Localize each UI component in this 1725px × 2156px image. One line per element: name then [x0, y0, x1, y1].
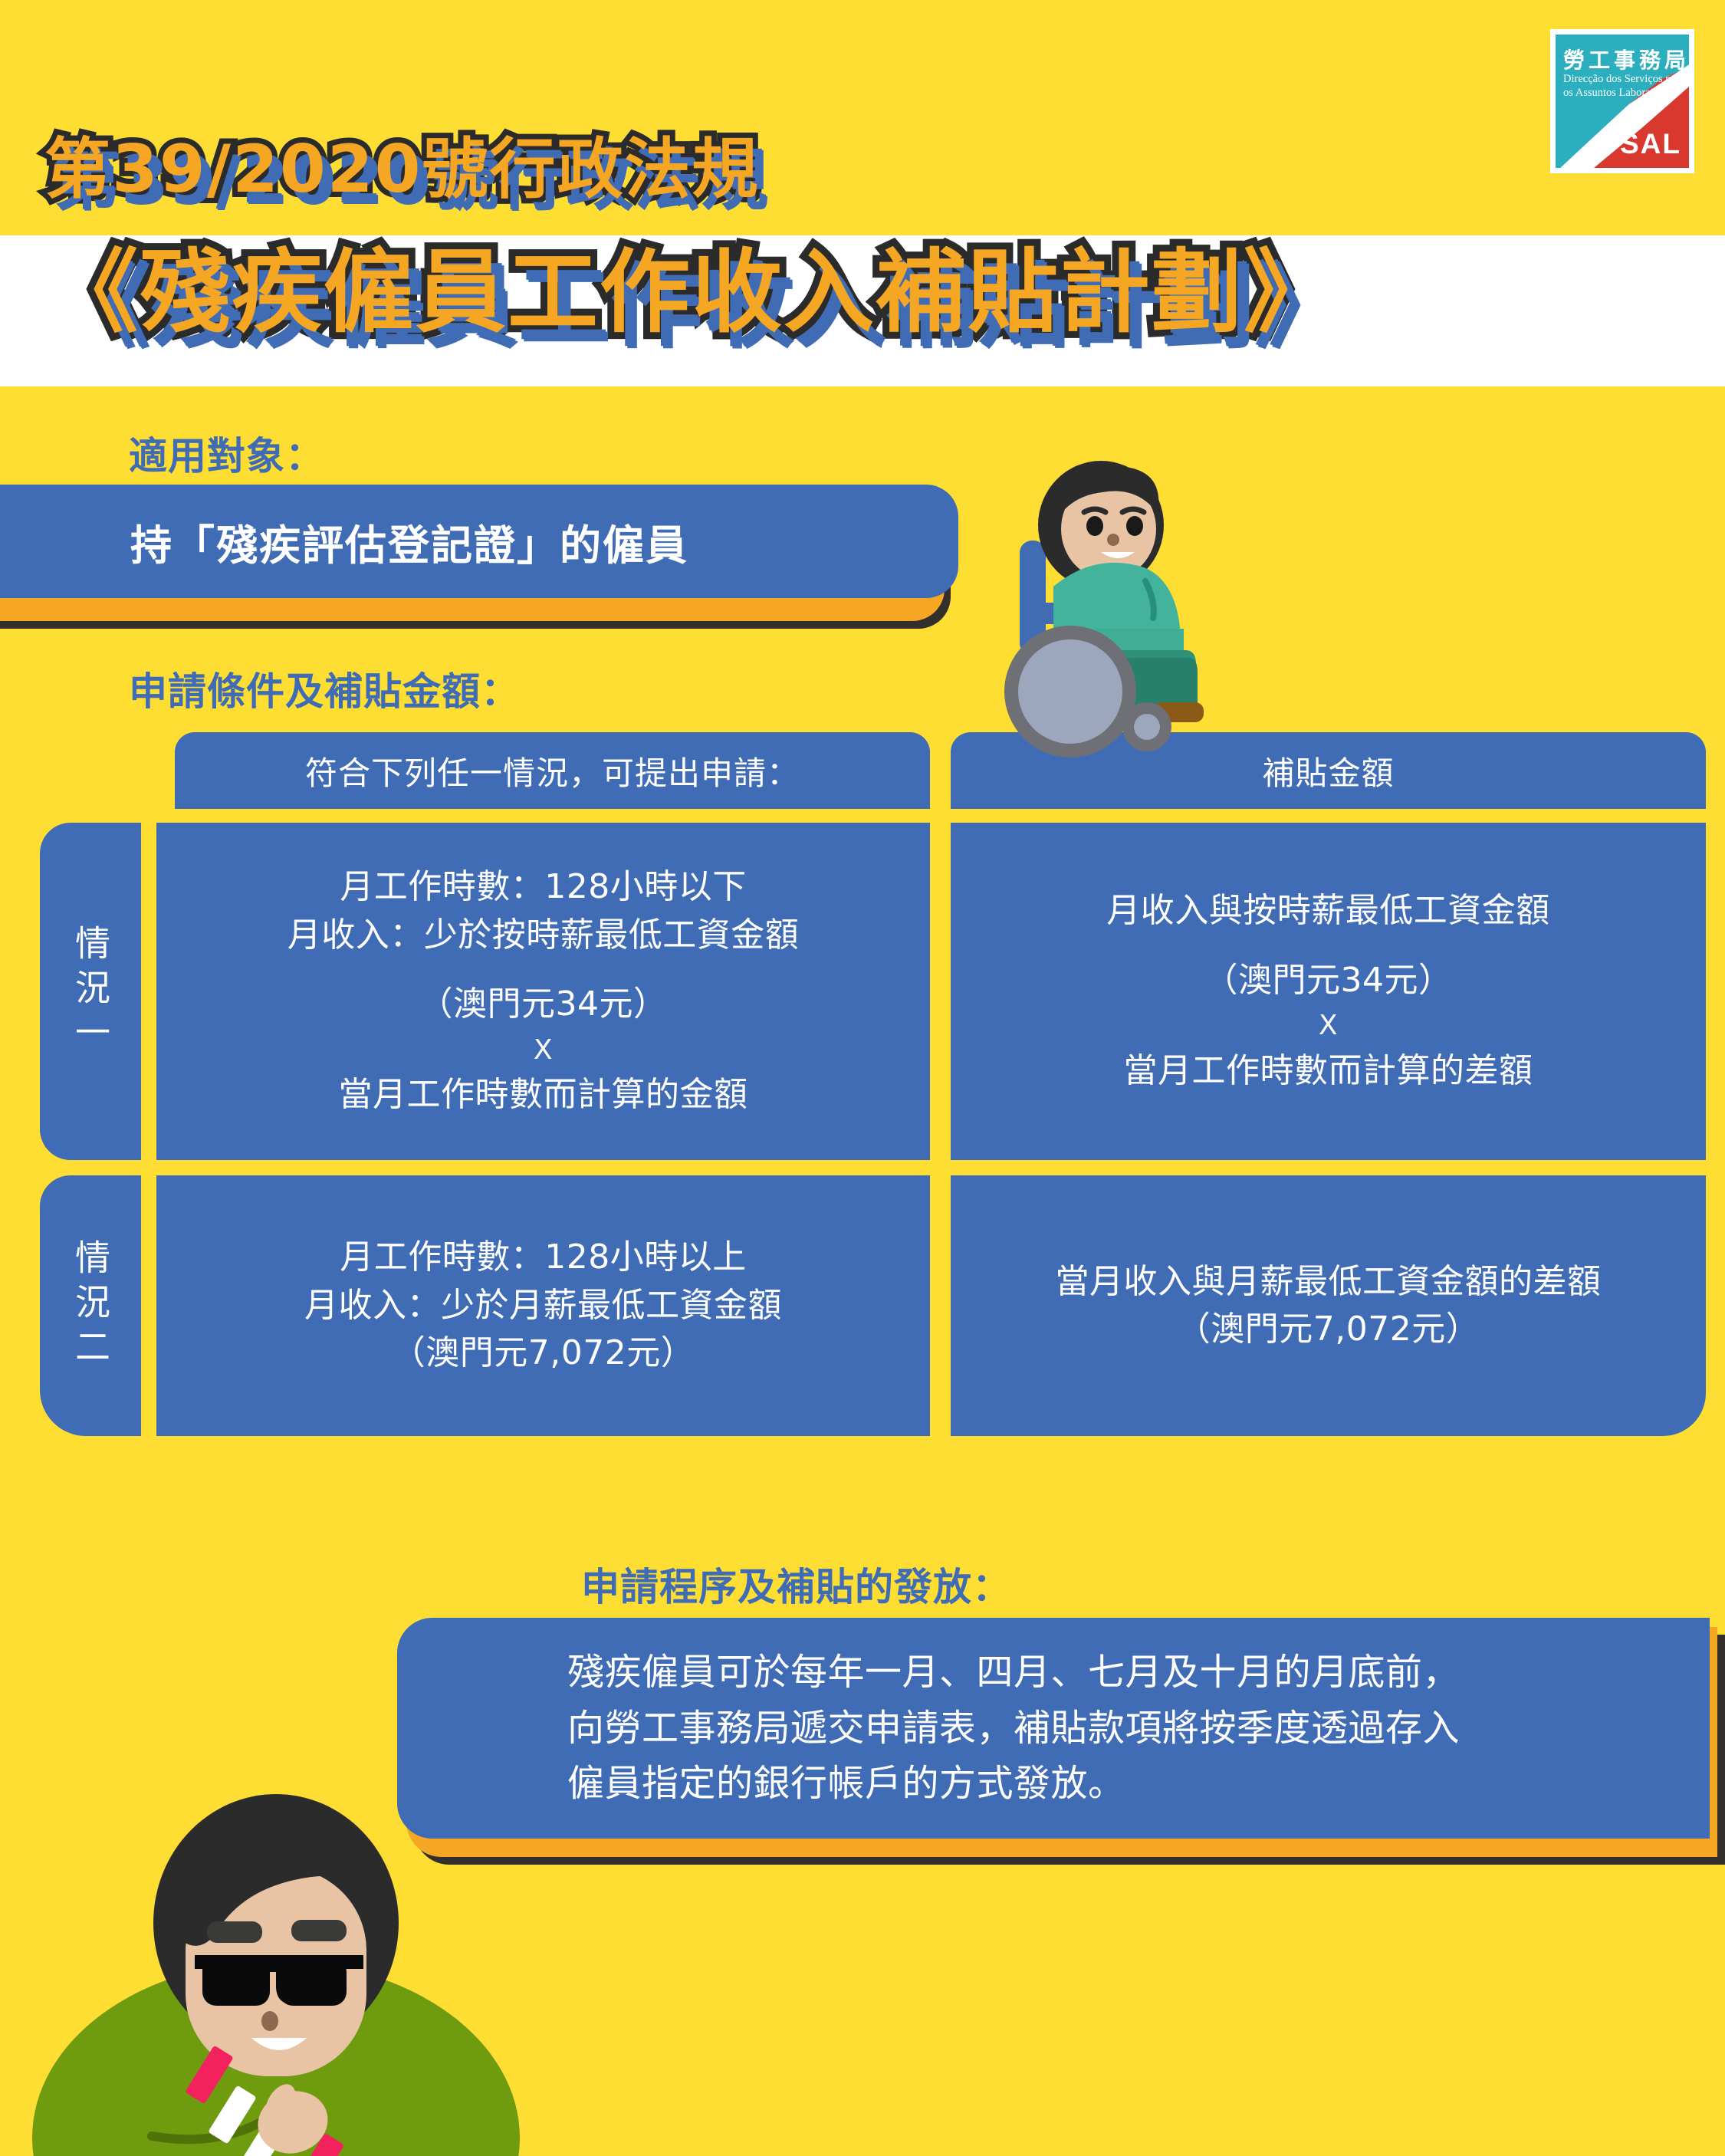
table-header-conditions-text: 符合下列任一情況，可提出申請：: [305, 748, 800, 794]
table-header-conditions: 符合下列任一情況，可提出申請：: [175, 732, 930, 809]
logo-chinese-name: 勞工事務局: [1563, 44, 1689, 74]
conditions-section-label: 申請條件及補貼金額：: [129, 661, 520, 716]
scheme-title: 《殘疾僱員工作收入補貼計劃》: [48, 247, 1336, 337]
case-label-1: 情況一: [40, 823, 141, 1160]
wheelchair-user-illustration: [980, 452, 1256, 767]
row1-amt-operator: X: [1319, 1004, 1338, 1047]
row1-cond-operator: X: [534, 1029, 553, 1072]
row2-amt-line1: 當月收入與月薪最低工資金額的差額: [1056, 1258, 1602, 1306]
table-row-2-amount-cell: 當月收入與月薪最低工資金額的差額 （澳門元7,072元）: [951, 1175, 1706, 1436]
row1-cond-line3: （澳門元34元）: [419, 981, 668, 1028]
blind-man-with-cane-illustration: [23, 1777, 575, 2156]
row2-cond-line2: 月收入：少於月薪最低工資金額: [304, 1282, 782, 1329]
logo-graphic: 勞工事務局 Direcção dos Serviços para os Assu…: [1556, 35, 1689, 168]
regulation-number-title: 第39/2020號行政法規: [44, 136, 759, 202]
target-banner-blue-layer: 持「殘疾評估登記證」的僱員: [0, 485, 958, 598]
row1-cond-line2: 月收入：少於按時薪最低工資金額: [287, 912, 800, 959]
procedure-line-3: 僱員指定的銀行帳戶的方式發放。: [567, 1756, 1664, 1812]
infographic-page: 勞工事務局 Direcção dos Serviços para os Assu…: [0, 0, 1725, 2156]
procedure-banner-blue-layer: 殘疾僱員可於每年一月、四月、七月及十月的月底前， 向勞工事務局遞交申請表，補貼款…: [397, 1618, 1710, 1839]
case-label-2-text: 情況二: [73, 1239, 108, 1372]
row1-cond-line1: 月工作時數：128小時以下: [340, 863, 746, 911]
procedure-section-label: 申請程序及補貼的發放：: [581, 1556, 1011, 1612]
procedure-banner: 殘疾僱員可於每年一月、四月、七月及十月的月底前， 向勞工事務局遞交申請表，補貼款…: [397, 1618, 1725, 1871]
logo-portuguese-name: Direcção dos Serviços para os Assuntos L…: [1563, 73, 1686, 100]
row1-cond-line5: 當月工作時數而計算的金額: [339, 1071, 748, 1119]
row2-cond-line1: 月工作時數：128小時以上: [340, 1234, 746, 1281]
dsal-logo: 勞工事務局 Direcção dos Serviços para os Assu…: [1550, 29, 1694, 173]
row1-amt-line4: 當月工作時數而計算的差額: [1124, 1047, 1533, 1095]
row1-amt-line2: （澳門元34元）: [1204, 957, 1453, 1004]
target-section-label: 適用對象：: [129, 426, 324, 481]
case-label-1-text: 情況一: [73, 925, 108, 1058]
logo-acronym: DSAL: [1598, 128, 1681, 160]
row1-amt-line1: 月收入與按時薪最低工資金額: [1106, 887, 1550, 935]
procedure-line-2: 向勞工事務局遞交申請表，補貼款項將按季度透過存入: [567, 1701, 1664, 1757]
case-label-2: 情況二: [40, 1175, 141, 1436]
target-banner-text: 持「殘疾評估登記證」的僱員: [0, 511, 688, 572]
target-banner: 持「殘疾評估登記證」的僱員: [0, 485, 964, 630]
procedure-line-1: 殘疾僱員可於每年一月、四月、七月及十月的月底前，: [567, 1645, 1664, 1701]
table-row-2-condition-cell: 月工作時數：128小時以上 月收入：少於月薪最低工資金額 （澳門元7,072元）: [156, 1175, 930, 1436]
table-header-amount-text: 補貼金額: [1262, 748, 1394, 794]
conditions-table: 符合下列任一情況，可提出申請： 補貼金額 情況一 月工作時數：128小時以下 月…: [0, 732, 1725, 1461]
table-row-1-amount-cell: 月收入與按時薪最低工資金額 （澳門元34元） X 當月工作時數而計算的差額: [951, 823, 1706, 1160]
table-row-1-condition-cell: 月工作時數：128小時以下 月收入：少於按時薪最低工資金額 （澳門元34元） X…: [156, 823, 930, 1160]
row2-cond-line3: （澳門元7,072元）: [392, 1329, 695, 1377]
row2-amt-line2: （澳門元7,072元）: [1177, 1306, 1480, 1353]
